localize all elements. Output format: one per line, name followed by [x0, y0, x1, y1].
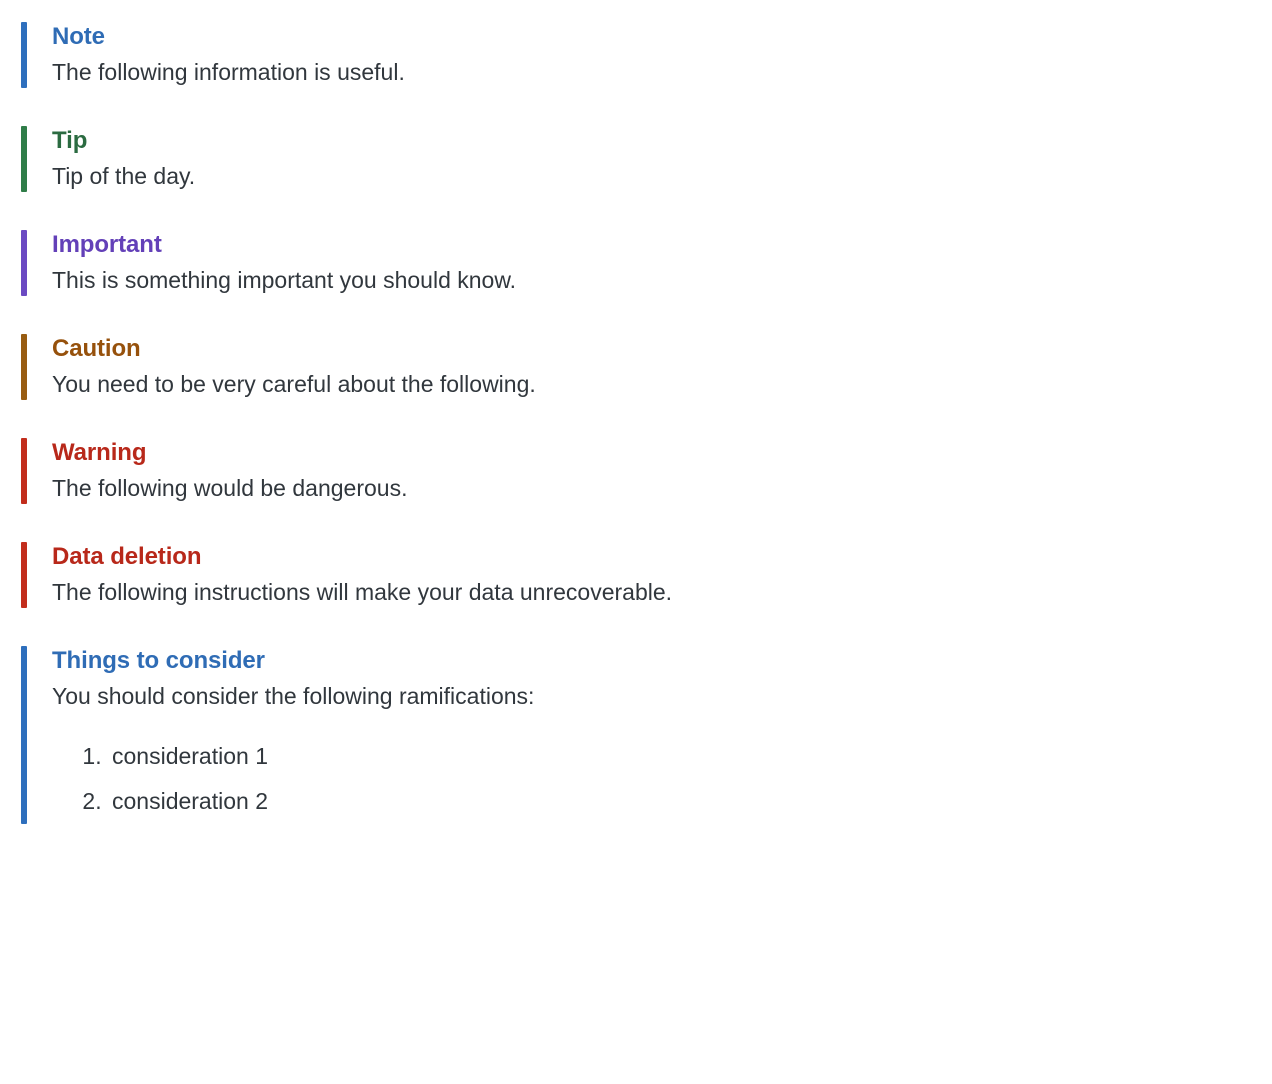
alert-body-caution: You need to be very careful about the fo… [52, 369, 1272, 400]
list-item: consideration 1 [108, 734, 1272, 779]
alert-title-warning: Warning [52, 438, 1272, 468]
alert-body-data-deletion: The following instructions will make you… [52, 577, 1272, 608]
alert-accent-bar-data-deletion [21, 542, 27, 608]
alert-body-things-to-consider: You should consider the following ramifi… [52, 681, 1272, 712]
alert-note: NoteThe following information is useful. [21, 22, 1272, 88]
alert-tip: TipTip of the day. [21, 126, 1272, 192]
alert-accent-bar-important [21, 230, 27, 296]
alert-accent-bar-warning [21, 438, 27, 504]
alert-things-to-consider: Things to considerYou should consider th… [21, 646, 1272, 824]
alert-title-caution: Caution [52, 334, 1272, 364]
alert-list-things-to-consider: consideration 1consideration 2 [52, 734, 1272, 824]
alerts-page: NoteThe following information is useful.… [0, 0, 1272, 824]
alert-accent-bar-caution [21, 334, 27, 400]
alert-accent-bar-tip [21, 126, 27, 192]
alert-title-things-to-consider: Things to consider [52, 646, 1272, 676]
alert-body-tip: Tip of the day. [52, 161, 1272, 192]
list-item: consideration 2 [108, 779, 1272, 824]
alert-data-deletion: Data deletionThe following instructions … [21, 542, 1272, 608]
alert-body-warning: The following would be dangerous. [52, 473, 1272, 504]
alert-caution: CautionYou need to be very careful about… [21, 334, 1272, 400]
alert-body-important: This is something important you should k… [52, 265, 1272, 296]
alert-title-data-deletion: Data deletion [52, 542, 1272, 572]
alert-title-tip: Tip [52, 126, 1272, 156]
alert-accent-bar-note [21, 22, 27, 88]
alert-body-note: The following information is useful. [52, 57, 1272, 88]
alert-title-important: Important [52, 230, 1272, 260]
alert-important: ImportantThis is something important you… [21, 230, 1272, 296]
alert-warning: WarningThe following would be dangerous. [21, 438, 1272, 504]
alert-title-note: Note [52, 22, 1272, 52]
alert-accent-bar-things-to-consider [21, 646, 27, 824]
